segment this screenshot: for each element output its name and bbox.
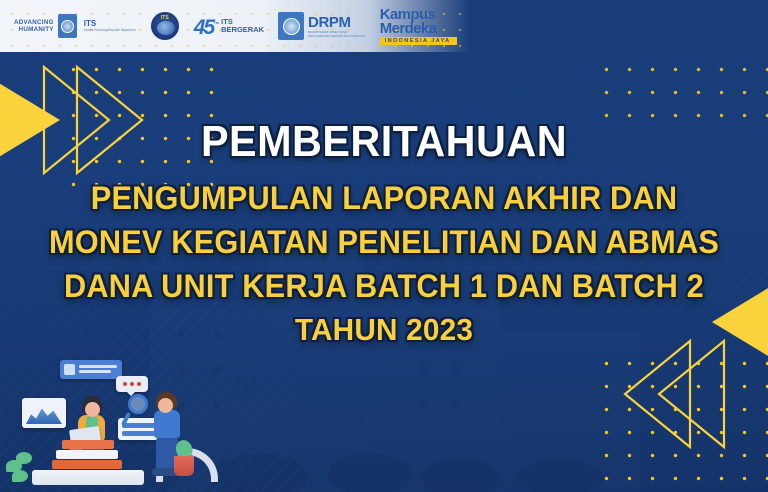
announcement-poster: ADVANCING HUMANITY ITS Institut Teknolog…	[0, 0, 768, 492]
illustration-chat-bubble	[116, 376, 148, 392]
advancing-humanity-tagline: ADVANCING HUMANITY	[14, 19, 54, 34]
illustration-flower-pot	[174, 456, 194, 476]
logo-band: ADVANCING HUMANITY ITS Institut Teknolog…	[0, 0, 470, 52]
tagline-line-2: HUMANITY	[14, 26, 54, 34]
drpm-seal-icon	[278, 12, 304, 40]
magnifying-glass-icon	[128, 394, 148, 414]
bergerak-mark-icon: 45™	[194, 15, 217, 38]
kampus-line-2: Merdeka	[380, 22, 437, 36]
its-shield-icon	[58, 14, 77, 38]
drpm-subtext-2: PENGABDIAN KEPADA MASYARAKAT	[308, 34, 366, 38]
kampus-badge: INDONESIA JAYA	[380, 37, 457, 45]
subtitle-line-4: TAHUN 2023	[15, 308, 752, 352]
illustration-blue-card	[60, 360, 122, 379]
illustration-chart-card	[22, 398, 66, 428]
drpm-wordmark: DRPM DIREKTORAT RISET DAN PENGABDIAN KEP…	[308, 15, 366, 38]
bergerak-wordmark: ITS BERGERAK	[221, 18, 264, 35]
chevron-outline-right-b	[622, 338, 692, 450]
its-seal-icon: ITS	[150, 11, 180, 41]
drpm-acronym: DRPM	[308, 15, 366, 30]
illustration-plant-left	[6, 448, 40, 486]
subtitle-line-2: MONEV KEGIATAN PENELITIAN DAN ABMAS	[15, 220, 752, 264]
illustration-platform	[32, 470, 144, 485]
illustration-book-stack	[52, 440, 140, 474]
bergerak-line-2: BERGERAK	[221, 26, 264, 35]
headline-block: PEMBERITAHUAN PENGUMPULAN LAPORAN AKHIR …	[0, 118, 768, 352]
its-acronym: ITS	[84, 20, 136, 28]
research-team-illustration	[6, 352, 221, 492]
logo-its-bergerak: 45™ ITS BERGERAK	[194, 15, 264, 38]
logo-its-seal: ITS	[150, 11, 180, 41]
poster-title: PEMBERITAHUAN	[23, 118, 745, 166]
tagline-line-1: ADVANCING	[14, 19, 54, 27]
logo-its-advancing-humanity: ADVANCING HUMANITY ITS Institut Teknolog…	[14, 14, 136, 38]
subtitle-line-3: DANA UNIT KERJA BATCH 1 DAN BATCH 2	[15, 264, 752, 308]
poster-subtitle: PENGUMPULAN LAPORAN AKHIR DAN MONEV KEGI…	[0, 176, 768, 352]
subtitle-line-1: PENGUMPULAN LAPORAN AKHIR DAN	[15, 176, 752, 220]
logo-drpm: DRPM DIREKTORAT RISET DAN PENGABDIAN KEP…	[278, 12, 366, 40]
its-wordmark: ITS Institut Teknologi Sepuluh Nopember	[84, 20, 136, 32]
logo-kampus-merdeka: Kampus Merdeka INDONESIA JAYA	[380, 8, 457, 45]
its-subtext: Institut Teknologi Sepuluh Nopember	[84, 28, 136, 32]
